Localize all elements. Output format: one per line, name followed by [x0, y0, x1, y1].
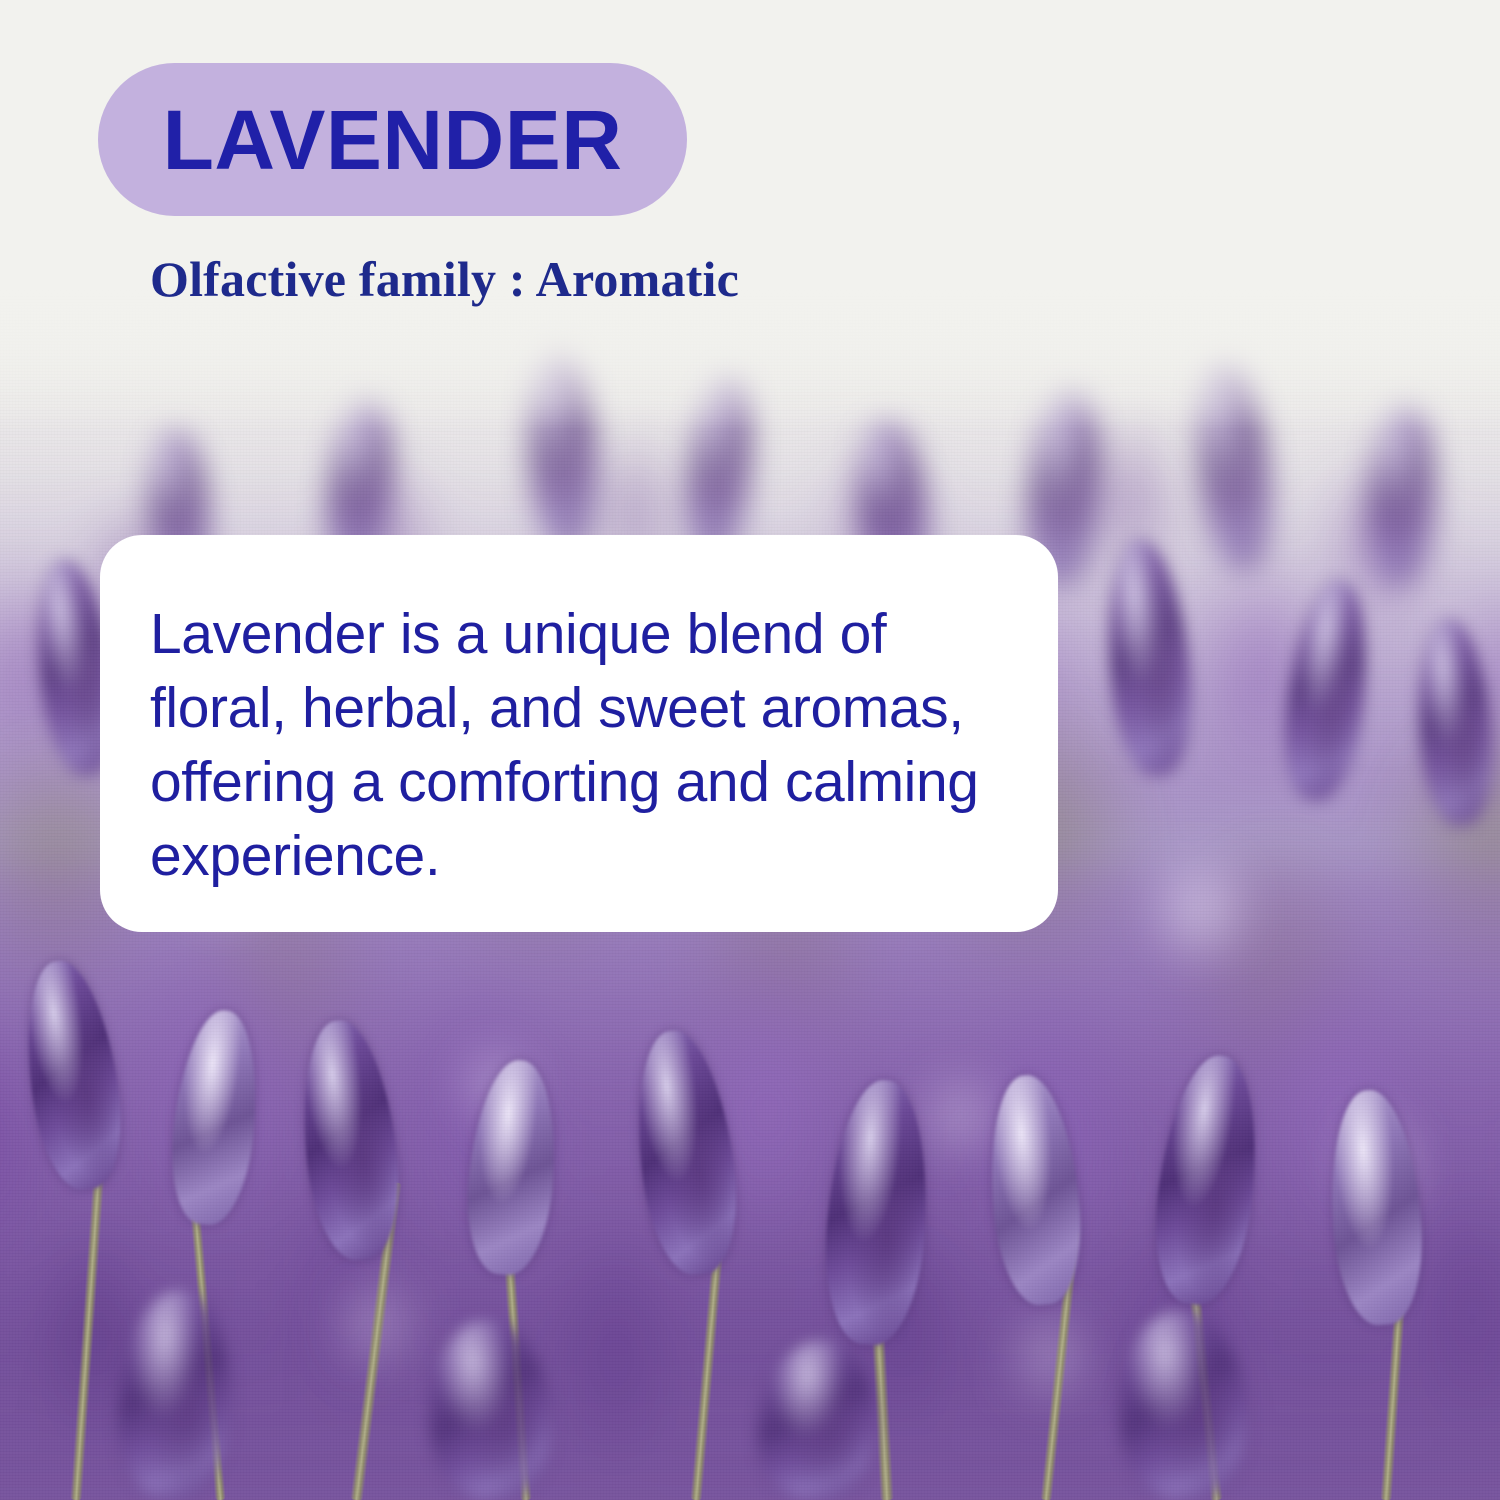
- olfactive-family-subtitle: Olfactive family : Aromatic: [150, 250, 739, 308]
- description-text: Lavender is a unique blend of floral, he…: [150, 597, 1000, 893]
- title-badge: LAVENDER: [98, 63, 687, 216]
- page-title: LAVENDER: [163, 98, 623, 182]
- lavender-product-poster: LAVENDER Olfactive family : Aromatic Lav…: [0, 0, 1500, 1500]
- description-card: Lavender is a unique blend of floral, he…: [100, 535, 1058, 932]
